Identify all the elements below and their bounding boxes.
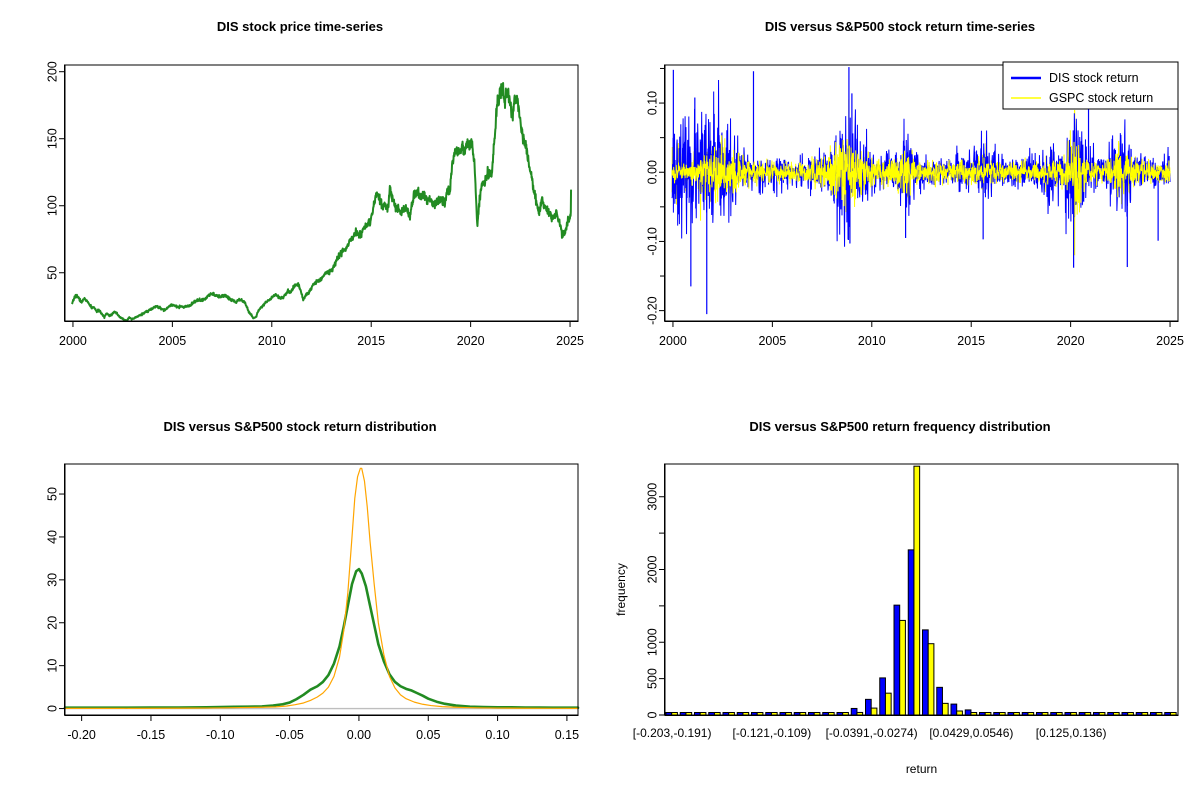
dis-frequency-bar <box>866 699 872 715</box>
yaxis-frequency-label: 500 <box>645 668 659 689</box>
dis-frequency-bar <box>951 704 957 715</box>
xaxis-dis-price-label: 2000 <box>59 334 87 348</box>
yaxis-density-label: 40 <box>45 530 59 544</box>
yaxis-return-ts-label: -0.20 <box>645 296 659 325</box>
yaxis-frequency-label: 0 <box>645 711 659 718</box>
yaxis-dis-price-label: 50 <box>45 266 59 280</box>
dis-frequency-bar <box>908 550 914 715</box>
xaxis-density-label: -0.20 <box>67 728 96 742</box>
xaxis-density-label: 0.00 <box>347 728 371 742</box>
legend-return-ts-label: DIS stock return <box>1049 71 1139 85</box>
plot-border-frequency <box>665 464 1178 715</box>
frequency-bars-group <box>666 466 1176 715</box>
xaxis-dis-price-label: 2015 <box>357 334 385 348</box>
xaxis-dis-price-label: 2025 <box>556 334 584 348</box>
figure-grid: DIS stock price time-series 200020052010… <box>0 0 1200 800</box>
xaxis-dis-price-label: 2010 <box>258 334 286 348</box>
xaxis-density-label: 0.15 <box>555 728 579 742</box>
dis-frequency-bar <box>937 687 943 715</box>
panel-return-frequency: DIS versus S&P500 return frequency distr… <box>600 400 1200 800</box>
dis-price-line <box>72 83 571 321</box>
xaxis-frequency-label: [0.0429,0.0546) <box>929 726 1013 740</box>
yaxis-dis-price-label: 200 <box>45 61 59 82</box>
gspc-frequency-bar <box>928 644 934 715</box>
yaxis-return-ts-label: 0.10 <box>645 91 659 115</box>
dis-frequency-bar <box>923 630 929 715</box>
xaxis-frequency-label: [-0.121,-0.109) <box>733 726 812 740</box>
yaxis-return-ts-label: 0.00 <box>645 160 659 184</box>
gspc-frequency-bar <box>885 693 891 715</box>
xaxis-density-label: 0.05 <box>416 728 440 742</box>
gspc-frequency-bar <box>914 466 920 715</box>
panel-dis-gspc-return: DIS versus S&P500 stock return time-seri… <box>600 0 1200 400</box>
gspc-frequency-bar <box>957 711 963 715</box>
xaxis-dis-price-label: 2005 <box>158 334 186 348</box>
dis-frequency-bar <box>965 710 971 715</box>
xaxis-return-ts-label: 2000 <box>659 334 687 348</box>
xaxis-return-ts-label: 2005 <box>758 334 786 348</box>
yaxis-density-label: 50 <box>45 487 59 501</box>
dis-price-chart: DIS stock price time-series 200020052010… <box>0 0 600 400</box>
dis-price-series-group <box>72 83 571 321</box>
xaxis-return-ts-label: 2015 <box>957 334 985 348</box>
xaxis-frequency-title: return <box>906 762 937 776</box>
xaxis-density-label: 0.10 <box>485 728 509 742</box>
xaxis-dis-price-label: 2020 <box>457 334 485 348</box>
gspc-frequency-bar <box>871 708 877 715</box>
xaxis-frequency-label: [0.125,0.136) <box>1036 726 1107 740</box>
yaxis-frequency-label: 3000 <box>645 483 659 511</box>
panel-title-return-distribution: DIS versus S&P500 stock return distribut… <box>163 419 436 434</box>
yaxis-frequency-title: frequency <box>614 563 628 616</box>
xaxis-return-ts-label: 2025 <box>1156 334 1184 348</box>
gspc-frequency-bar <box>942 703 948 715</box>
panel-dis-price: DIS stock price time-series 200020052010… <box>0 0 600 400</box>
dis-frequency-bar <box>880 678 886 715</box>
xaxis-return-ts-label: 2020 <box>1057 334 1085 348</box>
yaxis-frequency-label: 2000 <box>645 556 659 584</box>
panel-title-dis-gspc-return: DIS versus S&P500 stock return time-seri… <box>765 19 1035 34</box>
gspc-frequency-bar <box>900 620 906 715</box>
yaxis-density-label: 0 <box>45 705 59 712</box>
plot-border-dis-price <box>65 65 578 321</box>
yaxis-density-label: 20 <box>45 616 59 630</box>
dis-gspc-return-chart: DIS versus S&P500 stock return time-seri… <box>600 0 1200 400</box>
xaxis-frequency-label: [-0.0391,-0.0274) <box>826 726 918 740</box>
yaxis-dis-price-label: 150 <box>45 128 59 149</box>
return-frequency-chart: DIS versus S&P500 return frequency distr… <box>600 400 1200 800</box>
xaxis-density-label: -0.05 <box>275 728 304 742</box>
yaxis-density-label: 10 <box>45 659 59 673</box>
panel-return-distribution: DIS versus S&P500 stock return distribut… <box>0 400 600 800</box>
legend-return-ts-label: GSPC stock return <box>1049 91 1153 105</box>
xaxis-density-label: -0.15 <box>137 728 166 742</box>
dis-density-line <box>65 569 578 708</box>
gspc-density-line <box>65 468 578 708</box>
panel-title-dis-price: DIS stock price time-series <box>217 19 383 34</box>
yaxis-frequency-label: 1000 <box>645 628 659 656</box>
plot-border-density <box>65 464 578 715</box>
xaxis-return-ts-label: 2010 <box>858 334 886 348</box>
dis-frequency-bar <box>894 605 900 715</box>
yaxis-density-label: 30 <box>45 573 59 587</box>
yaxis-return-ts-label: -0.10 <box>645 227 659 256</box>
xaxis-frequency-label: [-0.203,-0.191) <box>633 726 712 740</box>
panel-title-return-frequency: DIS versus S&P500 return frequency distr… <box>749 419 1050 434</box>
dis-frequency-bar <box>851 708 857 715</box>
yaxis-dis-price-label: 100 <box>45 195 59 216</box>
xaxis-density-label: -0.10 <box>206 728 235 742</box>
return-distribution-chart: DIS versus S&P500 stock return distribut… <box>0 400 600 800</box>
